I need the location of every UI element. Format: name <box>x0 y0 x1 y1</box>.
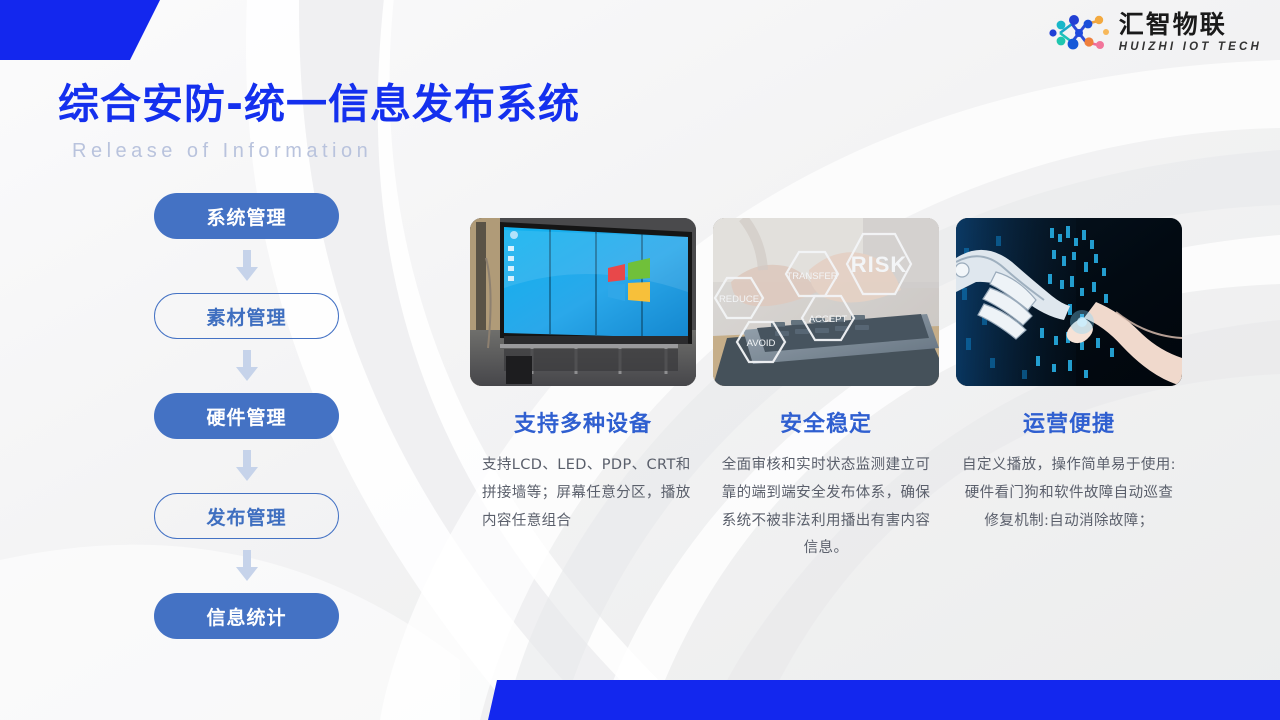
arrow-down-icon <box>235 450 259 482</box>
flow-step-label: 系统管理 <box>206 203 286 230</box>
flow-step-label: 硬件管理 <box>206 403 286 430</box>
flow-step-hardware-management[interactable]: 硬件管理 <box>154 393 339 439</box>
brand-name-cn: 汇智物联 <box>1119 12 1262 37</box>
molecule-network-icon <box>1048 12 1110 54</box>
flow-step-label: 发布管理 <box>206 503 286 530</box>
card-title: 支持多种设备 <box>470 406 696 438</box>
card-body: 支持LCD、LED、PDP、CRT和拼接墙等；屏幕任意分区，播放内容任意组合 <box>470 452 696 535</box>
page-title: 综合安防-统一信息发布系统 <box>58 70 580 130</box>
card-body: 自定义播放，操作简单易于使用:硬件看门狗和软件故障自动巡查修复机制:自动消除故障… <box>956 452 1182 535</box>
brand-name-en: HUIZHI IOT TECH <box>1119 42 1262 54</box>
card-title: 安全稳定 <box>713 406 939 438</box>
lcd-video-wall-photo <box>470 218 696 386</box>
feature-card: 运营便捷 自定义播放，操作简单易于使用:硬件看门狗和软件故障自动巡查修复机制:自… <box>956 218 1182 563</box>
flow-step-info-statistics[interactable]: 信息统计 <box>154 593 339 639</box>
feature-card: 支持多种设备 支持LCD、LED、PDP、CRT和拼接墙等；屏幕任意分区，播放内… <box>470 218 696 563</box>
arrow-down-icon <box>235 550 259 582</box>
risk-management-hexagons-photo: RISK TRANSFER REDUCE ACCEPT AVOID <box>713 218 939 386</box>
page-title-block: 综合安防-统一信息发布系统 Release of Information <box>58 70 580 163</box>
flow-step-publish-management[interactable]: 发布管理 <box>154 493 339 539</box>
flow-step-material-management[interactable]: 素材管理 <box>154 293 339 339</box>
page-subtitle: Release of Information <box>72 140 580 163</box>
flow-step-label: 素材管理 <box>206 303 286 330</box>
flow-step-system-management[interactable]: 系统管理 <box>154 193 339 239</box>
robot-human-hand-data-photo <box>956 218 1182 386</box>
brand-logo: 汇智物联 HUIZHI IOT TECH <box>1048 12 1262 54</box>
process-flow: 系统管理 素材管理 硬件管理 发布管理 信息统计 <box>154 193 339 639</box>
slide-canvas: 汇智物联 HUIZHI IOT TECH 综合安防-统一信息发布系统 Relea… <box>0 0 1280 720</box>
arrow-down-icon <box>235 350 259 382</box>
card-title: 运营便捷 <box>956 406 1182 438</box>
feature-card: RISK TRANSFER REDUCE ACCEPT AVOID 安全稳定 全… <box>713 218 939 563</box>
arrow-down-icon <box>235 250 259 282</box>
feature-cards: 支持多种设备 支持LCD、LED、PDP、CRT和拼接墙等；屏幕任意分区，播放内… <box>470 218 1182 563</box>
card-body: 全面审核和实时状态监测建立可靠的端到端安全发布体系，确保系统不被非法利用播出有害… <box>713 452 939 563</box>
flow-step-label: 信息统计 <box>206 603 286 630</box>
